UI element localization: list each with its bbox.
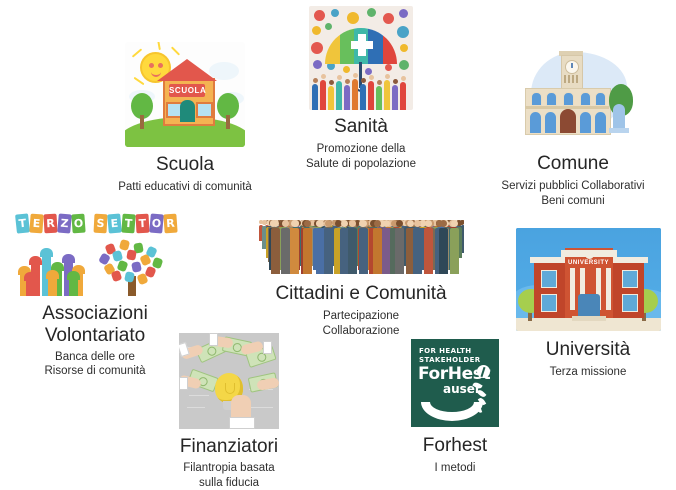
school-illustration: SCUOLA [125,42,245,147]
node-cittadini: Cittadini e Comunità Partecipazione Coll… [250,198,472,338]
node-finanziatori: Finanziatori Filantropia basata sulla fi… [155,333,303,490]
node-subtitle-scuola: Patti educativi di comunità [60,180,310,195]
node-title-finanziatori: Finanziatori [155,436,303,458]
node-title-comune: Comune [470,153,676,175]
school-sign-label: SCUOLA [169,84,205,97]
node-subtitle-comune: Servizi pubblici Collaborativi Beni comu… [470,179,676,208]
node-forhest: FOR HEALTH STAKEHOLDER ForHest auser For… [391,339,519,476]
node-universita: UNIVERSITY Università Terza missione [500,228,676,380]
terzo-settore-wordmark: T E R Z O S E T T O R [16,214,174,236]
node-subtitle-forhest: I metodi [391,461,519,476]
forhest-tagline: FOR HEALTH STAKEHOLDER [419,347,481,364]
node-sanita: Sanità Promozione della Salute di popola… [248,6,474,171]
node-subtitle-universita: Terza missione [500,365,676,380]
node-title-forhest: Forhest [391,435,519,457]
crowd-illustration [259,198,464,278]
node-title-cittadini: Cittadini e Comunità [250,283,472,305]
university-sign-label: UNIVERSITY [568,259,610,267]
node-title-universita: Università [500,339,676,361]
node-title-sanita: Sanità [248,116,474,138]
university-seal-icon [585,250,594,259]
forhest-circle-icon [477,365,490,378]
node-subtitle-finanziatori: Filantropia basata sulla fiducia [155,461,303,490]
node-subtitle-sanita: Promozione della Salute di popolazione [248,142,474,171]
town-hall-illustration [513,42,633,146]
node-comune: Comune Servizi pubblici Collaborativi Be… [470,42,676,208]
clock-icon [565,60,579,74]
third-sector-hands-illustration: T E R Z O S E T T O R [10,212,180,296]
health-umbrella-illustration [309,6,413,110]
university-illustration: UNIVERSITY [516,228,661,331]
forhest-logo: FOR HEALTH STAKEHOLDER ForHest auser [411,339,499,427]
funding-lightbulb-illustration [179,333,279,429]
